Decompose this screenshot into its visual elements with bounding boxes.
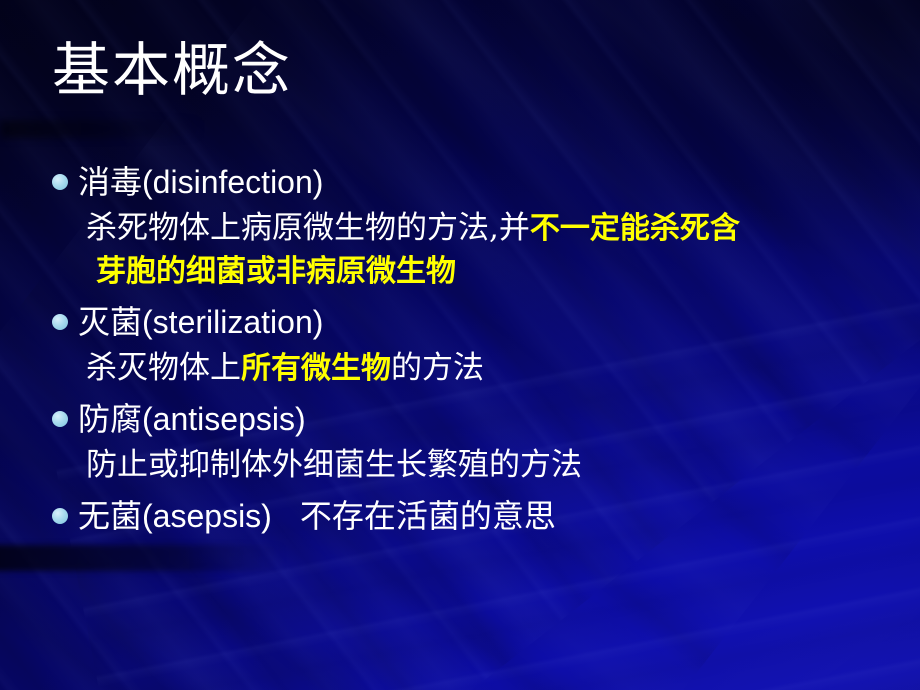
term-en: (disinfection) (142, 164, 323, 200)
bullet-heading: 灭菌(sterilization) (78, 300, 323, 344)
bullet-dot-icon (52, 314, 68, 330)
slide-content: 基本概念 消毒(disinfection) 杀死物体上病原微生物的方法,并不一定… (0, 0, 920, 690)
definition-plain: 杀死物体上病原微生物的方法,并 (86, 210, 530, 246)
definition-plain: 的方法 (391, 350, 484, 386)
definition-highlight: 不一定能杀死含 (530, 211, 740, 246)
list-item: 防腐(antisepsis) (52, 397, 892, 441)
term-cn: 防腐 (78, 400, 142, 438)
definition-plain: 杀灭物体上 (86, 350, 241, 386)
term-cn: 无菌 (78, 497, 142, 535)
definition-line: 芽胞的细菌或非病原微生物 (52, 251, 892, 292)
bullet-dot-icon (52, 174, 68, 190)
definition-line: 杀死物体上病原微生物的方法,并不一定能杀死含 (52, 208, 892, 249)
definition-highlight: 所有微生物 (241, 351, 391, 386)
definition-line: 杀灭物体上所有微生物的方法 (52, 348, 892, 389)
term-en: (antisepsis) (142, 401, 306, 437)
definition-line: 防止或抑制体外细菌生长繁殖的方法 (52, 445, 892, 486)
term-en: (sterilization) (142, 304, 323, 340)
bullet-heading: 防腐(antisepsis) (78, 397, 306, 441)
definition-highlight: 芽胞的细菌或非病原微生物 (96, 254, 456, 289)
term-cn: 消毒 (78, 163, 142, 201)
bullet-list: 消毒(disinfection) 杀死物体上病原微生物的方法,并不一定能杀死含 … (52, 160, 892, 538)
list-item: 灭菌(sterilization) (52, 300, 892, 344)
term-trailing-note: 不存在活菌的意思 (300, 497, 556, 535)
list-item: 消毒(disinfection) (52, 160, 892, 204)
bullet-dot-icon (52, 411, 68, 427)
bullet-dot-icon (52, 508, 68, 524)
page-title: 基本概念 (52, 40, 292, 101)
term-en: (asepsis) (142, 498, 272, 534)
definition-plain: 防止或抑制体外细菌生长繁殖的方法 (86, 447, 582, 483)
bullet-heading: 无菌(asepsis)不存在活菌的意思 (78, 494, 556, 538)
term-cn: 灭菌 (78, 303, 142, 341)
bullet-heading: 消毒(disinfection) (78, 160, 323, 204)
list-item: 无菌(asepsis)不存在活菌的意思 (52, 494, 892, 538)
slide-canvas: 基本概念 消毒(disinfection) 杀死物体上病原微生物的方法,并不一定… (0, 0, 920, 690)
